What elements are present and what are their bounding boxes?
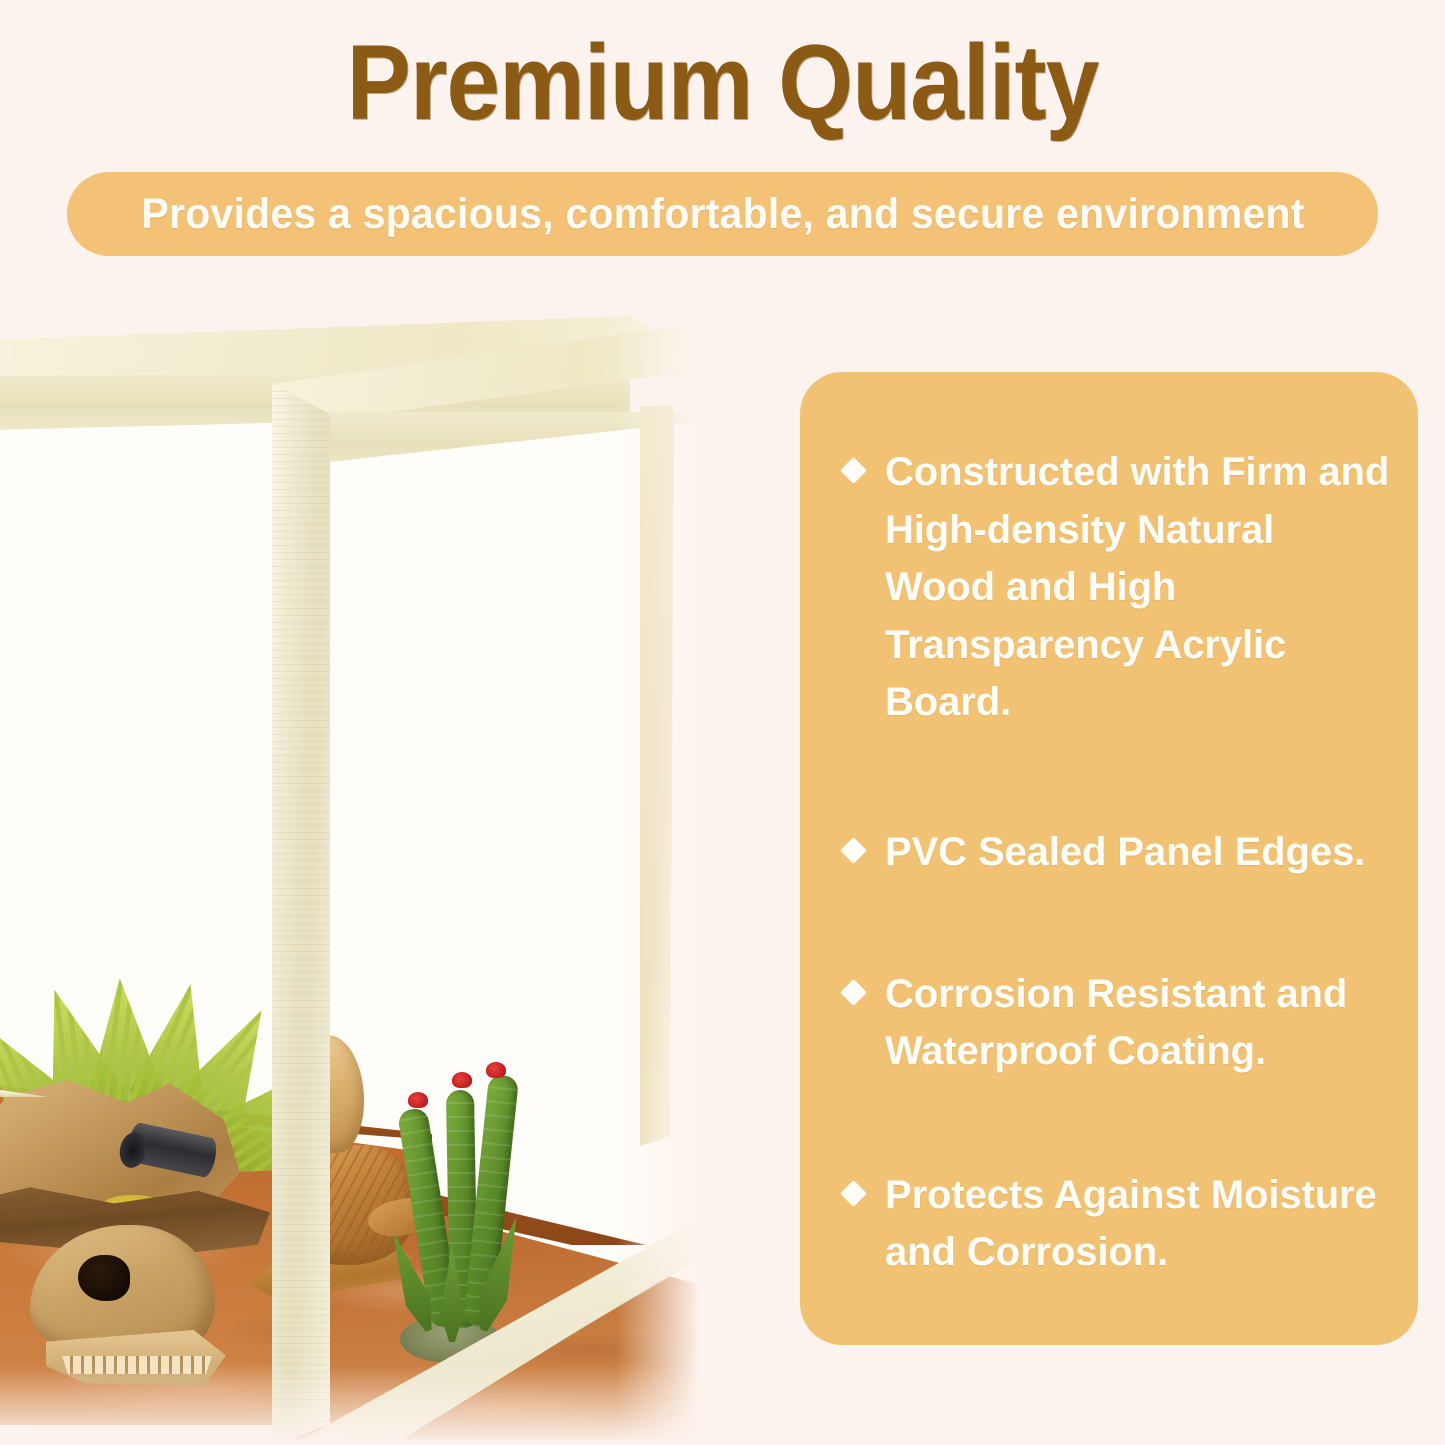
diamond-bullet-icon bbox=[840, 979, 867, 1006]
feature-bullet-item: PVC Sealed Panel Edges. bbox=[826, 824, 1392, 882]
cactus-flower bbox=[486, 1062, 506, 1078]
subtitle-text: Provides a spacious, comfortable, and se… bbox=[141, 190, 1304, 239]
subtitle-banner: Provides a spacious, comfortable, and se… bbox=[67, 172, 1378, 256]
cactus-flower bbox=[408, 1092, 428, 1108]
cactus-flower bbox=[452, 1072, 472, 1088]
wood-right-post bbox=[640, 406, 674, 1146]
feature-bullet-item: Corrosion Resistant and Waterproof Coati… bbox=[826, 966, 1392, 1081]
diamond-bullet-icon bbox=[840, 457, 867, 484]
product-photo bbox=[0, 300, 700, 1445]
feature-panel: Constructed with Firm and High-density N… bbox=[800, 372, 1418, 1345]
skull-eye-socket bbox=[78, 1255, 130, 1301]
skull-teeth bbox=[62, 1356, 212, 1374]
feature-bullet-text: PVC Sealed Panel Edges. bbox=[885, 824, 1365, 882]
wood-corner-post bbox=[272, 384, 330, 1445]
feature-bullet-text: Protects Against Moisture and Corrosion. bbox=[885, 1167, 1392, 1282]
feature-bullet-text: Constructed with Firm and High-density N… bbox=[885, 444, 1392, 732]
diamond-bullet-icon bbox=[840, 1180, 867, 1207]
page-title: Premium Quality bbox=[72, 26, 1373, 138]
feature-bullet-item: Protects Against Moisture and Corrosion. bbox=[826, 1167, 1392, 1282]
wood-bottom-rail-left bbox=[0, 1428, 290, 1445]
feature-bullet-item: Constructed with Firm and High-density N… bbox=[826, 444, 1392, 732]
diamond-bullet-icon bbox=[840, 837, 867, 864]
feature-bullet-text: Corrosion Resistant and Waterproof Coati… bbox=[885, 966, 1392, 1081]
